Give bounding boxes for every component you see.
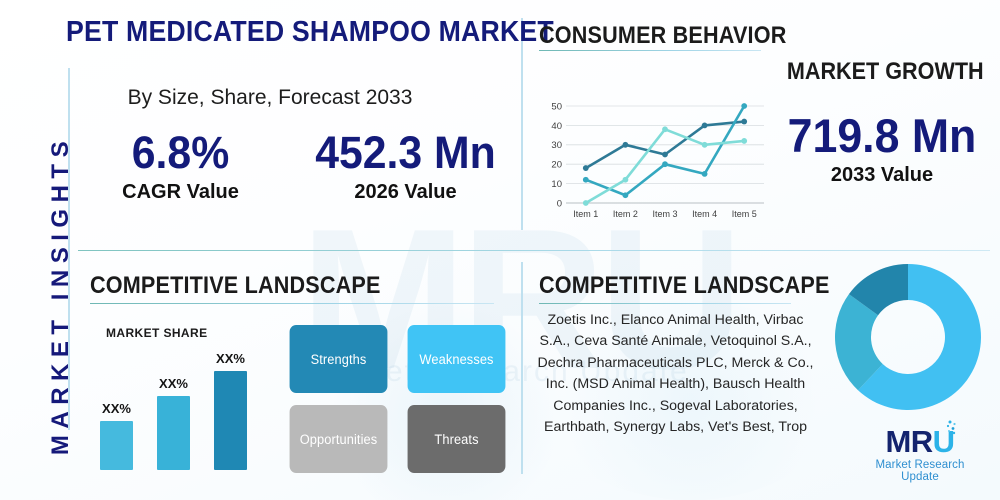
- market-share-bar-rect: [214, 371, 247, 470]
- swot-box-strengths[interactable]: Strengths: [290, 325, 388, 393]
- svg-text:Item 1: Item 1: [573, 209, 598, 219]
- market-insights-rail-label: MARKET INSIGHTS: [47, 85, 75, 500]
- infographic-canvas: MRU Market Research Update MARKET INSIGH…: [0, 0, 1000, 500]
- svg-text:Item 4: Item 4: [692, 209, 717, 219]
- section-heading-market-growth: MARKET GROWTH: [787, 58, 984, 86]
- line-chart-svg: 01020304050Item 1Item 2Item 3Item 4Item …: [540, 98, 770, 223]
- vertical-divider-bottom: [521, 262, 523, 474]
- market-share-bar-label: XX%: [214, 351, 247, 366]
- page-title: PET MEDICATED SHAMPOO MARKET: [66, 16, 480, 49]
- page-subtitle: By Size, Share, Forecast 2033: [70, 86, 470, 110]
- horizontal-divider: [78, 250, 990, 251]
- section-rule-consumer-behavior: [539, 50, 761, 51]
- kpi-2026-value: 452.3 Mn 2026 Value: [293, 127, 518, 205]
- swot-box-threats[interactable]: Threats: [408, 405, 506, 473]
- vertical-divider-top: [521, 18, 523, 230]
- svg-text:Item 2: Item 2: [613, 209, 638, 219]
- kpi-2026-value-label: 2026 Value: [293, 179, 518, 205]
- svg-text:30: 30: [551, 140, 562, 151]
- market-share-bar-rect: [157, 396, 190, 470]
- kpi-2033-value: 719.8 Mn 2033 Value: [768, 110, 996, 188]
- logo-tagline: Market Research Update: [855, 459, 985, 483]
- kpi-cagr-value: 6.8%: [88, 127, 273, 179]
- svg-text:Item 5: Item 5: [732, 209, 757, 219]
- section-heading-competitive-right: COMPETITIVE LANDSCAPE: [539, 272, 830, 300]
- section-heading-consumer-behavior: CONSUMER BEHAVIOR: [539, 22, 786, 50]
- svg-text:0: 0: [557, 198, 562, 209]
- market-share-bar: XX%: [214, 351, 247, 470]
- svg-text:10: 10: [551, 179, 562, 190]
- mru-logo: MRU Market Research Update: [855, 425, 985, 483]
- market-share-bar-rect: [100, 421, 133, 470]
- market-share-bar-label: XX%: [157, 376, 190, 391]
- svg-text:40: 40: [551, 121, 562, 132]
- svg-text:20: 20: [551, 160, 562, 171]
- swot-box-weaknesses[interactable]: Weaknesses: [408, 325, 506, 393]
- logo-sparkle-icon: [944, 420, 958, 436]
- market-share-title: MARKET SHARE: [106, 326, 207, 340]
- company-list: Zoetis Inc., Elanco Animal Health, Virba…: [531, 310, 820, 438]
- section-heading-competitive-left: COMPETITIVE LANDSCAPE: [90, 272, 381, 300]
- section-rule-competitive-left: [90, 303, 494, 304]
- kpi-cagr: 6.8% CAGR Value: [83, 127, 278, 205]
- kpi-2033-value-number: 719.8 Mn: [774, 110, 991, 162]
- market-share-bar-chart: XX%XX%XX%: [100, 340, 280, 470]
- market-share-bar: XX%: [157, 376, 190, 470]
- svg-text:50: 50: [551, 101, 562, 112]
- consumer-behavior-line-chart: 01020304050Item 1Item 2Item 3Item 4Item …: [540, 98, 770, 223]
- market-share-bar: XX%: [100, 401, 133, 470]
- svg-text:Item 3: Item 3: [652, 209, 677, 219]
- logo-mark-dark: MR: [885, 424, 932, 459]
- kpi-2033-value-label: 2033 Value: [768, 162, 996, 188]
- market-share-bar-label: XX%: [100, 401, 133, 416]
- kpi-cagr-label: CAGR Value: [83, 179, 278, 205]
- logo-wordmark: MRU: [885, 425, 954, 458]
- swot-box-opportunities[interactable]: Opportunities: [290, 405, 388, 473]
- section-rule-competitive-right: [539, 303, 791, 304]
- market-share-donut-chart: [833, 262, 983, 412]
- kpi-2026-value-number: 452.3 Mn: [299, 127, 513, 179]
- swot-grid: StrengthsWeaknessesOpportunitiesThreats: [287, 325, 511, 473]
- donut-chart-svg: [833, 262, 983, 412]
